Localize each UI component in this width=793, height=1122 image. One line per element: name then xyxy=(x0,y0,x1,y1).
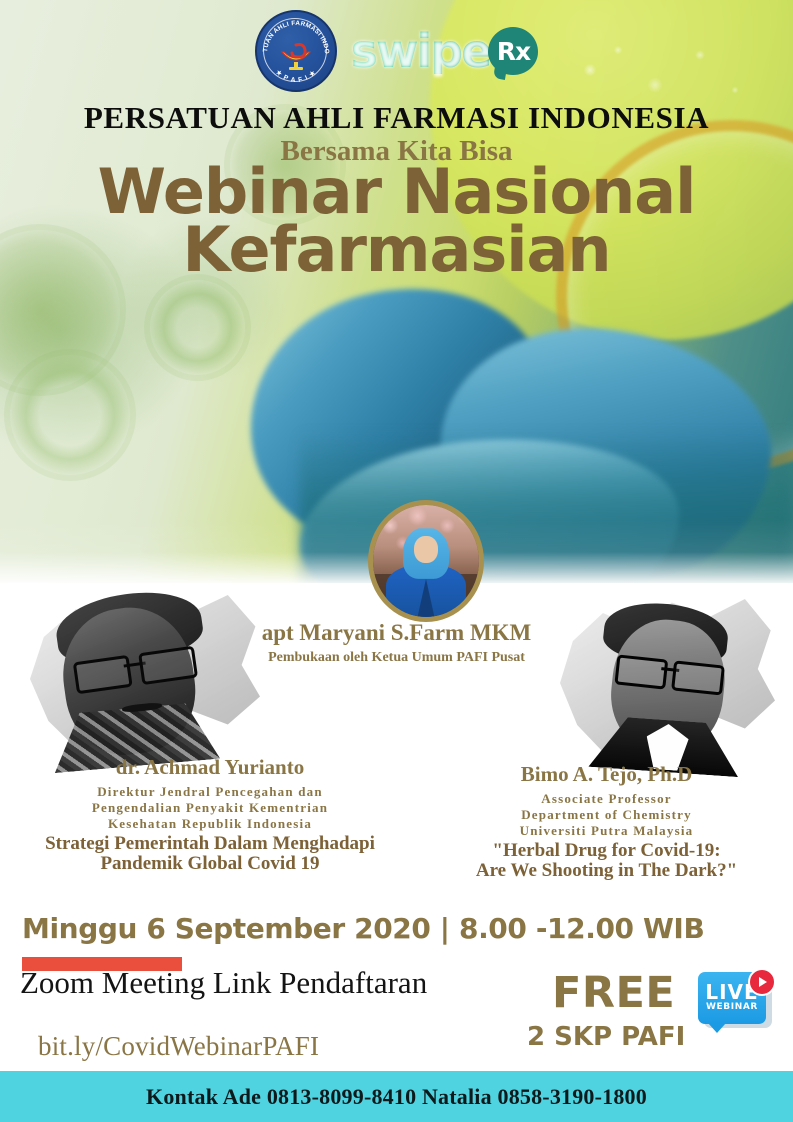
speaker-topic: "Herbal Drug for Covid-19: Are We Shooti… xyxy=(420,841,793,882)
registration-link[interactable]: bit.ly/CovidWebinarPAFI xyxy=(38,1031,319,1062)
affiliation-line: Kesehatan Republik Indonesia xyxy=(0,816,420,832)
rx-label: Rx xyxy=(497,39,530,64)
page-title: Webinar Nasional Kefarmasian xyxy=(0,163,793,278)
affiliation-line: Universiti Putra Malaysia xyxy=(420,823,793,839)
speaker-photo-tejo xyxy=(560,592,775,767)
affiliation-line: Direktur Jendral Pencegahan dan xyxy=(0,784,420,800)
contact-footer: Kontak Ade 0813-8099-8410 Natalia 0858-3… xyxy=(0,1071,793,1122)
bowl-of-hygieia-icon xyxy=(278,42,314,72)
swipe-wordmark: swipe xyxy=(351,28,491,74)
swiperx-logo: swipe Rx xyxy=(351,27,539,75)
live-webinar-badge: LIVE WEBINAR xyxy=(698,972,778,1040)
webinar-poster: PERSATUAN AHLI FARMASI INDONESIA ★ P A F… xyxy=(0,0,793,1122)
pafi-logo: PERSATUAN AHLI FARMASI INDONESIA ★ P A F… xyxy=(255,10,337,92)
organization-name: PERSATUAN AHLI FARMASI INDONESIA xyxy=(0,100,793,136)
speaker-affiliation: Associate Professor Department of Chemis… xyxy=(420,791,793,839)
affiliation-line: Pengendalian Penyakit Kementrian xyxy=(0,800,420,816)
topic-line: Strategi Pemerintah Dalam Menghadapi xyxy=(0,834,420,855)
contact-text: Kontak Ade 0813-8099-8410 Natalia 0858-3… xyxy=(146,1084,647,1110)
logo-row: PERSATUAN AHLI FARMASI INDONESIA ★ P A F… xyxy=(0,8,793,94)
glasses-lens-left xyxy=(614,654,668,689)
rx-bubble-icon: Rx xyxy=(488,27,538,75)
credits-label: 2 SKP PAFI xyxy=(527,1022,685,1052)
speaker-topic: Strategi Pemerintah Dalam Menghadapi Pan… xyxy=(0,834,420,875)
speaker-name: Bimo A. Tejo, Ph.D xyxy=(420,762,793,787)
avatar-face xyxy=(414,536,437,563)
platform-line: Zoom Meeting Link Pendaftaran xyxy=(20,965,427,1001)
price-label: FREE xyxy=(552,968,675,1018)
play-icon xyxy=(748,968,776,996)
topic-line: Are We Shooting in The Dark?" xyxy=(420,861,793,882)
speaker-affiliation: Direktur Jendral Pencegahan dan Pengenda… xyxy=(0,784,420,832)
title-line-2: Kefarmasian xyxy=(0,221,793,279)
speaker-name: dr. Achmad Yurianto xyxy=(0,755,420,780)
virus-particle-icon xyxy=(150,280,245,375)
webinar-label: WEBINAR xyxy=(706,1002,758,1014)
affiliation-line: Associate Professor xyxy=(420,791,793,807)
speaker-block-tejo: Bimo A. Tejo, Ph.D Associate Professor D… xyxy=(420,762,793,882)
glasses-lens-right xyxy=(671,660,725,695)
virus-particle-icon xyxy=(10,355,130,475)
event-datetime: Minggu 6 September 2020 | 8.00 -12.00 WI… xyxy=(22,912,704,945)
affiliation-line: Department of Chemistry xyxy=(420,807,793,823)
speaker-photo-yurianto xyxy=(30,588,260,763)
chairwoman-avatar xyxy=(368,500,484,622)
speaker-block-yurianto: dr. Achmad Yurianto Direktur Jendral Pen… xyxy=(0,755,420,875)
topic-line: Pandemik Global Covid 19 xyxy=(0,854,420,875)
play-triangle xyxy=(759,977,767,987)
topic-line: "Herbal Drug for Covid-19: xyxy=(420,841,793,862)
